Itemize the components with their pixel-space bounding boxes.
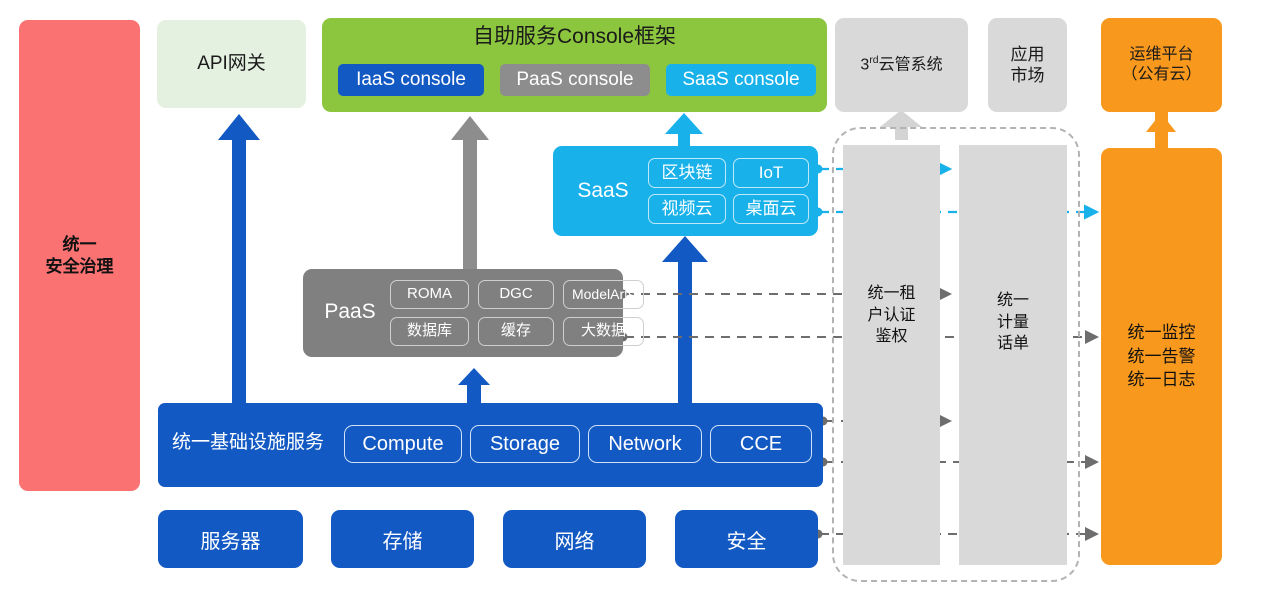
ops-platform-line-1: 运维平台: [1121, 45, 1201, 65]
unified-infrastructure-layer[interactable]: 统一基础设施服务 Compute Storage Network CCE: [158, 403, 823, 487]
saas-chip-video-cloud[interactable]: 视频云: [648, 194, 726, 224]
hardware-box-network[interactable]: 网络: [503, 510, 646, 568]
arrow-ops-column-to-ops-platform: [1146, 112, 1176, 148]
self-service-console-frame[interactable]: 自助服务Console框架 IaaS console PaaS console …: [322, 18, 827, 112]
app-market-line-1: 应用: [1011, 44, 1045, 65]
app-market-box[interactable]: 应用 市场: [988, 18, 1067, 112]
security-line-1: 统一: [46, 234, 114, 255]
paas-console-chip[interactable]: PaaS console: [500, 64, 650, 96]
arrow-infra-to-paas: [458, 368, 490, 403]
saas-chip-iot[interactable]: IoT: [733, 158, 809, 188]
api-gateway-label: API网关: [197, 52, 266, 76]
unified-metering-label: 统一 计量 话单: [959, 290, 1067, 355]
security-line-2: 安全治理: [46, 256, 114, 277]
unified-security-governance[interactable]: 统一 安全治理: [19, 20, 140, 491]
iaas-console-chip[interactable]: IaaS console: [338, 64, 484, 96]
paas-chip-bigdata[interactable]: 大数据: [563, 317, 644, 346]
architecture-diagram: 统一租 户认证 鉴权 统一 计量 话单 统一 安全治理 API网关 自助服务Co…: [0, 0, 1265, 605]
infra-chip-network[interactable]: Network: [588, 425, 702, 463]
auth-line-1: 统一租: [843, 283, 940, 305]
infra-chip-cce[interactable]: CCE: [710, 425, 812, 463]
metering-line-3: 话单: [959, 333, 1067, 355]
unified-auth-bar[interactable]: [843, 145, 940, 565]
hardware-box-server[interactable]: 服务器: [158, 510, 303, 568]
hardware-box-storage[interactable]: 存储: [331, 510, 474, 568]
paas-layer[interactable]: PaaS ROMA DGC ModelArts 数据库 缓存 大数据: [303, 269, 623, 357]
paas-layer-label: PaaS: [311, 299, 389, 325]
saas-chip-desktop-cloud[interactable]: 桌面云: [733, 194, 809, 224]
arrow-infra-to-api-gateway: [218, 114, 260, 403]
ops-platform-box[interactable]: 运维平台 （公有云）: [1101, 18, 1222, 112]
paas-chip-modelarts[interactable]: ModelArts: [563, 280, 644, 309]
saas-console-chip[interactable]: SaaS console: [666, 64, 816, 96]
infra-chip-storage[interactable]: Storage: [470, 425, 580, 463]
infra-layer-label: 统一基础设施服务: [172, 431, 324, 455]
ops-column-line-3: 统一日志: [1128, 368, 1196, 392]
console-frame-title: 自助服务Console框架: [322, 24, 827, 50]
saas-layer-label: SaaS: [565, 178, 641, 204]
metering-line-2: 计量: [959, 312, 1067, 334]
unified-metering-bar[interactable]: [959, 145, 1067, 565]
infra-chip-compute[interactable]: Compute: [344, 425, 462, 463]
arrow-paas-to-console: [451, 116, 489, 269]
arrow-saas-to-saas-console: [665, 113, 703, 146]
paas-chip-database[interactable]: 数据库: [390, 317, 469, 346]
app-market-line-2: 市场: [1011, 65, 1045, 86]
unified-auth-label: 统一租 户认证 鉴权: [843, 283, 940, 348]
third-cloud-label: 3rd云管系统: [860, 54, 942, 75]
ops-column-line-2: 统一告警: [1128, 345, 1196, 369]
saas-layer[interactable]: SaaS 区块链 IoT 视频云 桌面云: [553, 146, 818, 236]
third-party-cloud-mgmt-box[interactable]: 3rd云管系统: [835, 18, 968, 112]
paas-chip-cache[interactable]: 缓存: [478, 317, 554, 346]
auth-line-2: 户认证: [843, 305, 940, 327]
api-gateway-box[interactable]: API网关: [157, 20, 306, 108]
saas-chip-blockchain[interactable]: 区块链: [648, 158, 726, 188]
unified-ops-column[interactable]: 统一监控 统一告警 统一日志: [1101, 148, 1222, 565]
ops-platform-line-2: （公有云）: [1121, 65, 1201, 85]
auth-line-3: 鉴权: [843, 326, 940, 348]
hardware-box-security[interactable]: 安全: [675, 510, 818, 568]
paas-chip-dgc[interactable]: DGC: [478, 280, 554, 309]
ops-column-line-1: 统一监控: [1128, 321, 1196, 345]
paas-chip-roma[interactable]: ROMA: [390, 280, 469, 309]
arrow-infra-to-saas: [662, 236, 708, 403]
metering-line-1: 统一: [959, 290, 1067, 312]
